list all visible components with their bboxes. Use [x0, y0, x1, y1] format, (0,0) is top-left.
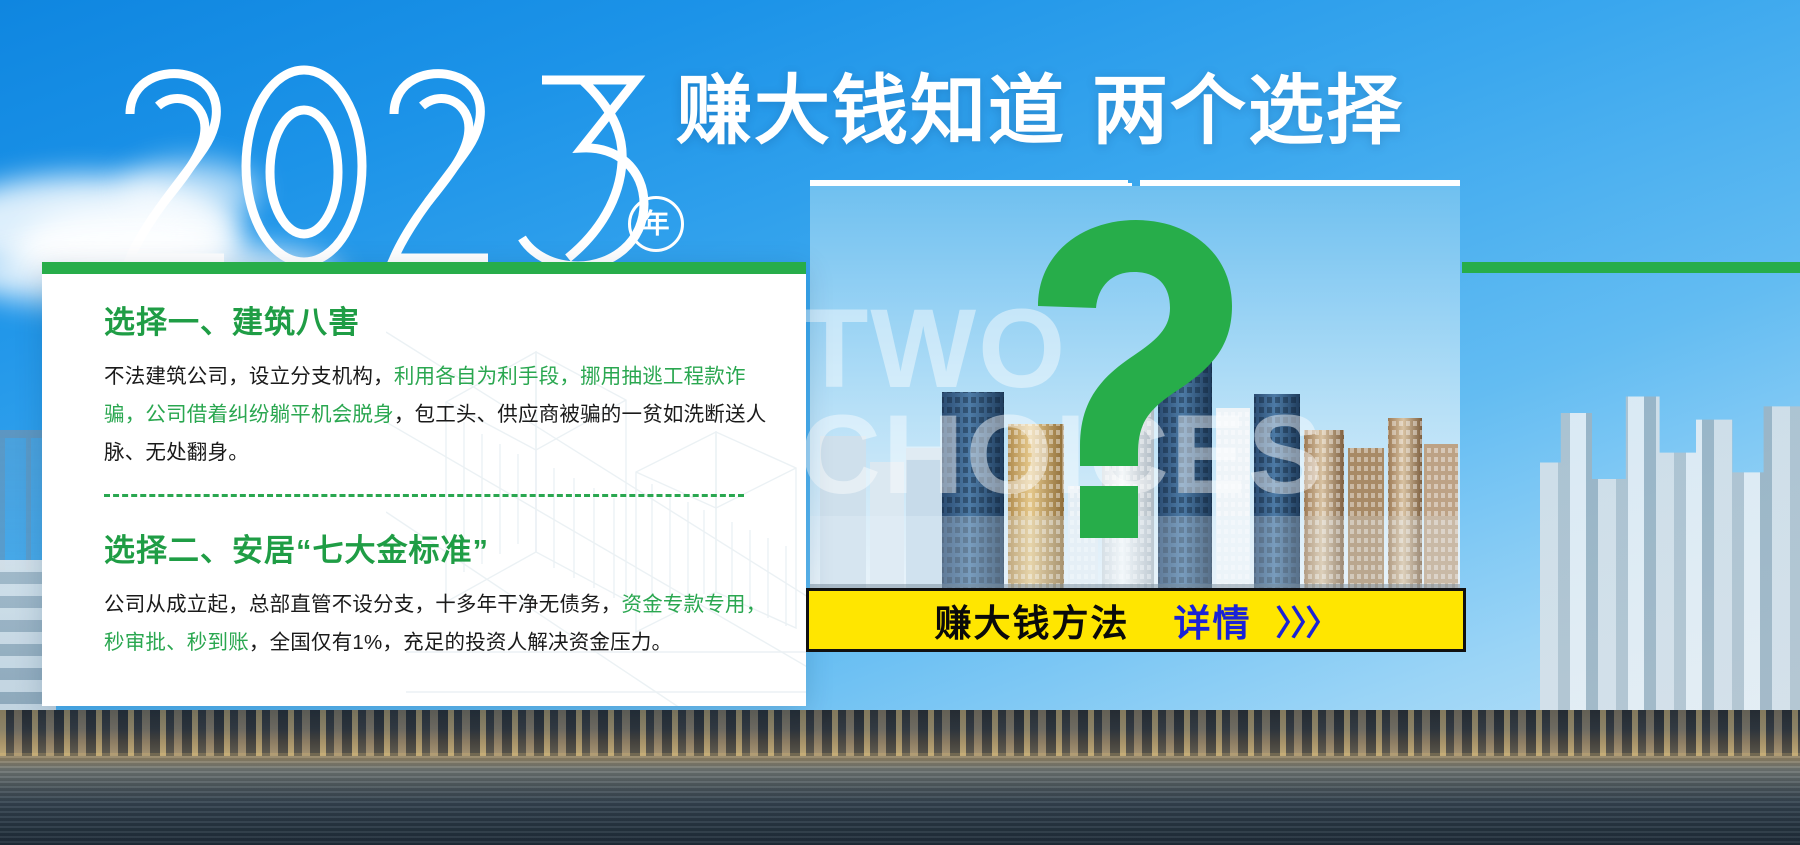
right-skyline-photo-element	[1540, 380, 1800, 710]
section-two-title: 选择二、安居“七大金标准”	[104, 534, 778, 568]
cta-label: 赚大钱方法	[935, 593, 1130, 647]
water-reflection	[0, 753, 1800, 845]
section-two-text-a: 公司从成立起，总部直管不设分支，十多年干净无债务，	[104, 593, 622, 616]
page-title: 赚大钱知道两个选择	[676, 74, 1404, 150]
section-one-paragraph: 不法建筑公司，设立分支机构，利用各自为利手段，挪用抽逃工程款诈骗，公司借着纠纷躺…	[104, 358, 776, 472]
year-suffix-badge: 年	[628, 196, 684, 252]
section-two-paragraph: 公司从成立起，总部直管不设分支，十多年干净无债务，资金专款专用，秒审批、秒到账，…	[104, 586, 776, 662]
cta-banner[interactable]: 赚大钱方法 详情 〉〉〉	[806, 588, 1466, 652]
section-one-text-a: 不法建筑公司，设立分支机构，	[104, 365, 394, 388]
bottom-cityscape-strip	[0, 710, 1800, 845]
section-divider	[104, 494, 744, 497]
green-accent-bar-right	[1462, 262, 1800, 273]
section-one: 选择一、建筑八害 不法建筑公司，设立分支机构，利用各自为利手段，挪用抽逃工程款诈…	[104, 306, 778, 472]
content-card: 选择一、建筑八害 不法建筑公司，设立分支机构，利用各自为利手段，挪用抽逃工程款诈…	[42, 262, 806, 706]
section-two: 选择二、安居“七大金标准” 公司从成立起，总部直管不设分支，十多年干净无债务，资…	[104, 534, 778, 662]
cta-details-link[interactable]: 详情	[1174, 593, 1252, 647]
city-photo-panel	[810, 186, 1460, 592]
section-one-title: 选择一、建筑八害	[104, 306, 778, 340]
chevron-right-icon: 〉〉〉	[1276, 596, 1338, 645]
cloud-decoration	[120, 160, 260, 220]
headline-part-2: 两个选择	[1092, 69, 1404, 154]
city-skyline-illustration	[810, 186, 1460, 592]
poster-canvas: 年 赚大钱知道两个选择	[0, 0, 1800, 845]
headline-part-1: 赚大钱知道	[676, 69, 1066, 154]
section-two-text-c: ，全国仅有1%，充足的投资人解决资金压力。	[249, 631, 672, 654]
card-accent-bar	[42, 262, 806, 274]
